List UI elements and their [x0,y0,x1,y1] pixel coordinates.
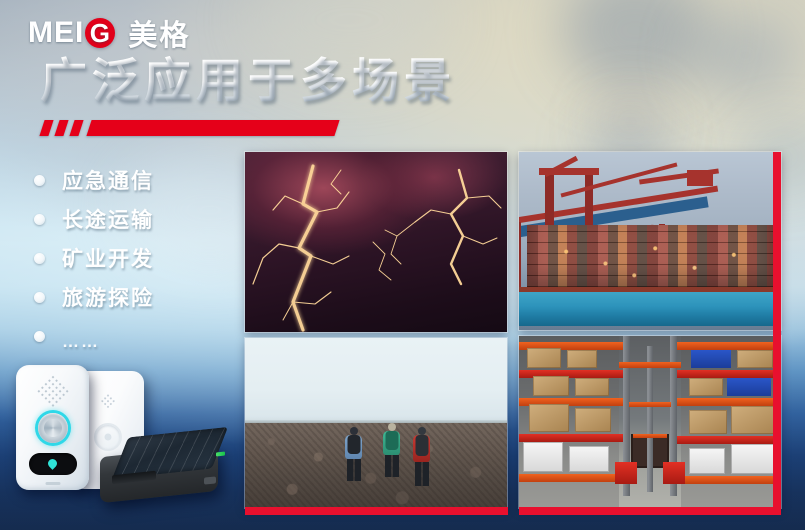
photo-warehouse-racking-aisle [519,336,781,508]
page-title: 广泛应用于多场景 [40,56,456,105]
rack-shelf [629,402,671,407]
list-item: 矿业开发 [34,240,154,276]
bullet-dot-icon [34,253,45,264]
pallet-box [533,376,569,396]
pallet-box [689,378,723,396]
background-blob [560,0,710,90]
product-group [0,355,235,530]
scenario-label: 应急通信 [62,165,154,195]
location-pin-icon [48,459,57,470]
sos-button-icon [38,413,68,443]
logo-wordmark: MEI G [28,18,115,48]
speaker-grille-icon [34,374,71,411]
scenario-label: 长途运输 [62,204,154,234]
product-white-handheld-terminal [16,365,89,490]
hiker-figure [413,427,430,486]
accent-bar-main [86,120,339,136]
device-screen [29,453,77,475]
hiker-figure [383,423,400,477]
background-blob [690,10,800,100]
list-item: 应急通信 [34,162,154,198]
rack-shelf [633,434,663,438]
brand-logo: MEI G 美格 [28,12,190,54]
photo-hikers-rocky-shore [245,338,507,508]
rack-foot-guard [615,462,637,484]
bullet-dot-icon [34,214,45,225]
list-item: 旅游探险 [34,279,154,315]
speaker-grille-icon [100,393,116,409]
bullet-dot-icon [34,292,45,303]
scenario-label: 矿业开发 [62,243,154,273]
blue-bin [691,350,731,368]
port-icon [204,476,216,484]
pallet-pail-stack [689,448,725,474]
scenario-list: 应急通信 长途运输 矿业开发 旅游探险 …… [34,162,154,357]
rocky-ground [245,423,507,508]
title-accent-bar [40,120,340,136]
scenario-label: 旅游探险 [62,282,154,312]
photo-container-port-cranes [519,152,781,330]
quay-lights [519,230,781,284]
pallet-box [529,404,569,432]
logo-wordmark-text: MEI [28,18,84,48]
accent-dash [69,120,83,136]
red-frame-right-edge [773,152,781,515]
pallet-box [689,410,727,434]
rack-shelf [671,370,781,378]
container-ship-hull [519,292,781,326]
photo-lightning-storm [245,152,507,332]
rack-shelf [671,342,781,350]
bullet-dot-icon [34,331,45,342]
logo-chinese-name: 美格 [128,12,190,54]
pallet-pail-stack [569,446,609,472]
background-blob [596,96,666,148]
red-frame-bottom-center [245,507,508,515]
pallet-box [527,348,561,368]
rack-shelf [519,434,624,442]
lightning-bolt-icon [245,152,507,332]
pallet-box [567,350,597,368]
pallet-box [731,406,775,434]
pallet-pail-stack [731,444,775,474]
rack-shelf [671,436,781,444]
list-item: …… [34,318,154,354]
scenario-label: …… [62,332,100,352]
accent-dash [54,120,68,136]
crane-trolley [687,170,713,186]
bullet-dot-icon [34,175,45,186]
product-black-solar-tracker [100,433,224,501]
rack-foot-guard [663,462,685,484]
blue-bin [727,378,771,396]
hiker-figure [345,427,362,481]
slide-root: MEI G 美格 广泛应用于多场景 广泛应用于多场景 应急通信 长途运输 矿业开… [0,0,805,530]
pallet-pail-stack [523,442,563,472]
rack-shelf [619,362,681,368]
logo-g-mark-icon: G [85,18,115,48]
rack-shelf [519,474,624,482]
rack-shelf [671,398,781,406]
red-frame-bottom-right [519,507,781,515]
pallet-box [737,350,773,368]
accent-dash [39,120,53,136]
usb-port-icon [45,482,60,485]
list-item: 长途运输 [34,201,154,237]
rack-shelf [671,476,781,484]
pallet-box [575,408,611,432]
pallet-box [575,378,609,396]
led-indicator-icon [216,452,225,457]
